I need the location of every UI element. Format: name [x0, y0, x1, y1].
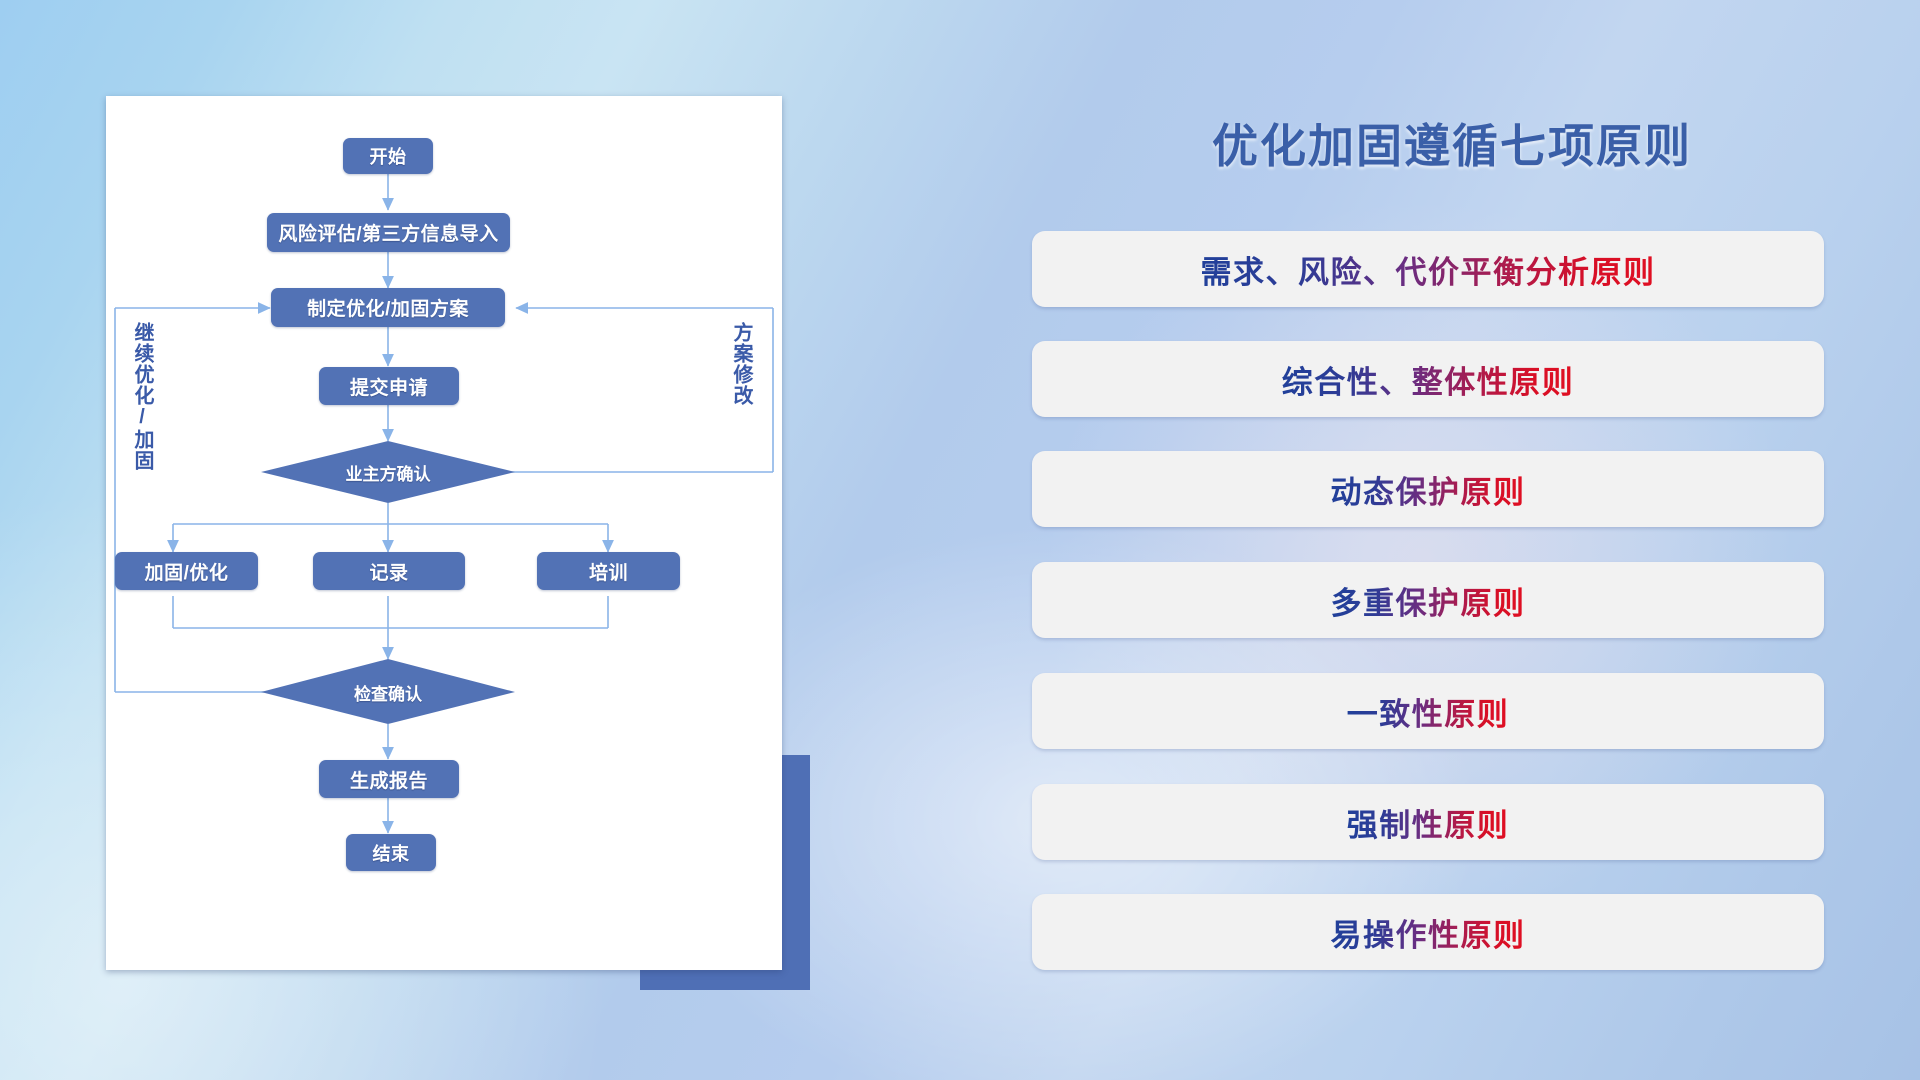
- node-submit-label: 提交申请: [350, 373, 428, 400]
- principle-item-3-label: 动态保护原则: [1331, 467, 1526, 512]
- node-reinforce[interactable]: 加固/优化: [115, 552, 258, 590]
- node-end-label: 结束: [373, 840, 410, 866]
- edge-label-right-loop: 方案修改: [731, 322, 751, 452]
- principle-item-7-label: 易操作性原则: [1331, 910, 1526, 955]
- principle-item-6[interactable]: 强制性原则: [1032, 784, 1824, 860]
- principle-item-2[interactable]: 综合性、整体性原则: [1032, 341, 1824, 417]
- node-end[interactable]: 结束: [346, 834, 436, 871]
- decision-check-confirm: [261, 659, 515, 724]
- principle-item-5[interactable]: 一致性原则: [1032, 673, 1824, 749]
- node-generate-report[interactable]: 生成报告: [319, 760, 459, 798]
- principle-item-4[interactable]: 多重保护原则: [1032, 562, 1824, 638]
- node-training-label: 培训: [589, 558, 628, 585]
- node-record-label: 记录: [369, 558, 408, 585]
- principle-item-1-label: 需求、风险、代价平衡分析原则: [1201, 247, 1656, 292]
- node-plan-label: 制定优化/加固方案: [307, 294, 469, 321]
- node-generate-report-label: 生成报告: [350, 766, 428, 793]
- node-training[interactable]: 培训: [537, 552, 680, 590]
- flowchart-card: 开始 风险评估/第三方信息导入 制定优化/加固方案 提交申请 业主方确认 加固/…: [106, 96, 782, 970]
- principle-item-2-label: 综合性、整体性原则: [1282, 357, 1575, 402]
- edge-label-left-loop: 继续优化/加固: [132, 322, 152, 502]
- slide-canvas: 开始 风险评估/第三方信息导入 制定优化/加固方案 提交申请 业主方确认 加固/…: [0, 0, 1920, 1080]
- node-record[interactable]: 记录: [313, 552, 465, 590]
- principle-item-5-label: 一致性原则: [1347, 689, 1510, 734]
- node-risk-assessment-label: 风险评估/第三方信息导入: [278, 219, 498, 246]
- decision-owner-confirm: [261, 441, 515, 503]
- node-risk-assessment[interactable]: 风险评估/第三方信息导入: [267, 213, 510, 252]
- principle-item-4-label: 多重保护原则: [1331, 578, 1526, 623]
- node-plan[interactable]: 制定优化/加固方案: [271, 288, 505, 327]
- principle-item-3[interactable]: 动态保护原则: [1032, 451, 1824, 527]
- principle-item-6-label: 强制性原则: [1347, 800, 1510, 845]
- node-start[interactable]: 开始: [343, 138, 433, 174]
- principles-panel: 优化加固遵循七项原则 需求、风险、代价平衡分析原则 综合性、整体性原则 动态保护…: [1022, 96, 1852, 996]
- principle-item-7[interactable]: 易操作性原则: [1032, 894, 1824, 970]
- node-submit[interactable]: 提交申请: [319, 367, 459, 405]
- principle-item-1[interactable]: 需求、风险、代价平衡分析原则: [1032, 231, 1824, 307]
- panel-title: 优化加固遵循七项原则: [1152, 110, 1752, 176]
- node-start-label: 开始: [370, 143, 407, 169]
- node-reinforce-label: 加固/优化: [145, 558, 229, 585]
